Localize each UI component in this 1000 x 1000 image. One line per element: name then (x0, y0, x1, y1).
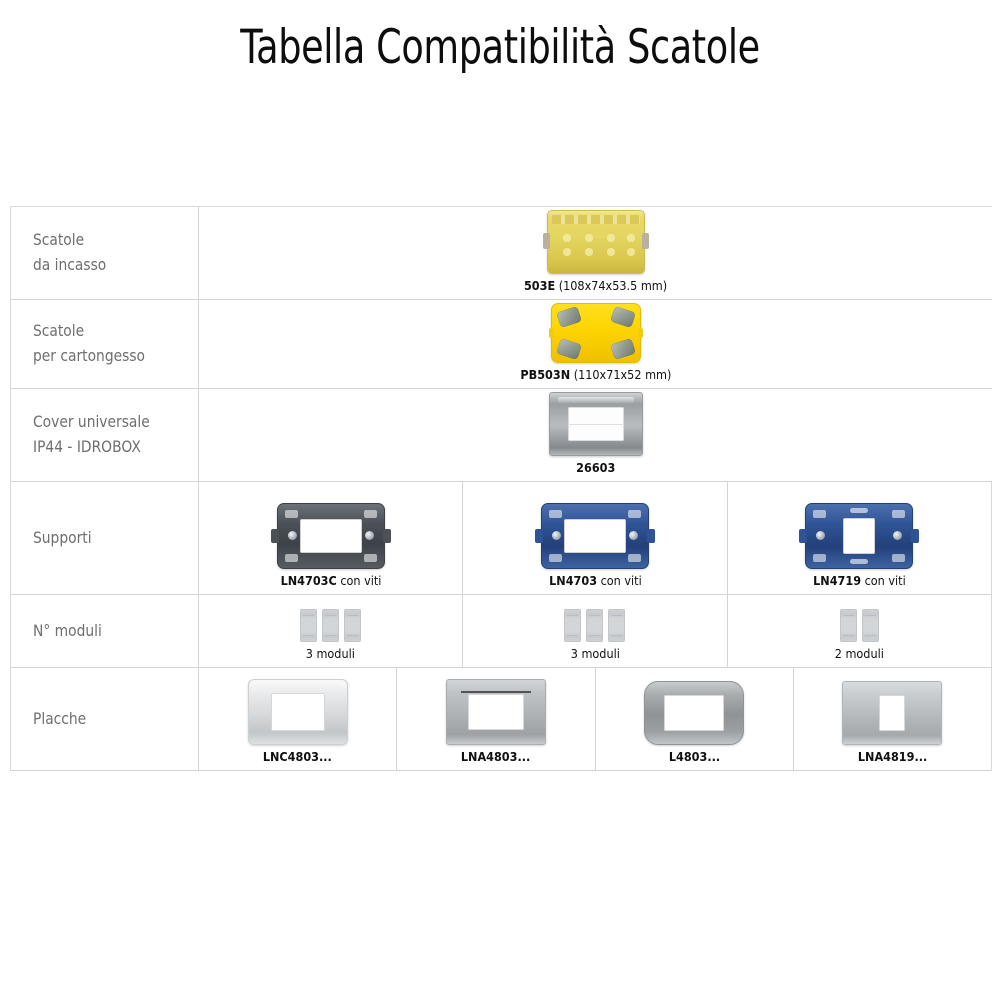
modules-art (463, 595, 726, 642)
modules-count-label: 3 moduli (570, 646, 619, 661)
row-label-scatole-per-cartongesso: Scatole per cartongesso (11, 300, 199, 388)
product-art (199, 668, 396, 745)
product-code: LN4703C (280, 573, 336, 588)
cell-caption: LNA4819... (858, 749, 927, 764)
cell-moduli-ln4703[interactable]: 3 moduli (463, 595, 727, 667)
cell-lna4819[interactable]: LNA4819... (794, 668, 992, 770)
product-code: LNA4819... (858, 749, 927, 764)
row-label-line1: Supporti (33, 526, 92, 551)
cell-caption: LN4703C con viti (280, 573, 381, 588)
row-cells: PB503N (110x71x52 mm) (199, 300, 992, 388)
product-art (199, 207, 992, 274)
product-art (199, 389, 992, 456)
support-ln4703-icon (541, 503, 649, 569)
cell-caption: 26603 (576, 460, 615, 475)
cell-caption: PB503N (110x71x52 mm) (520, 367, 671, 382)
product-code: 503E (524, 278, 555, 293)
row-cells: 503E (108x74x53.5 mm) (199, 207, 992, 299)
cell-26603[interactable]: 26603 (199, 389, 992, 481)
table-row-numero-moduli: N° moduli 3 moduli (11, 595, 992, 668)
row-label-line1: Scatole (33, 228, 84, 253)
product-art (794, 668, 991, 745)
row-label-line1: N° moduli (33, 619, 102, 644)
plate-l4803-icon (644, 681, 744, 745)
cell-caption: 3 moduli (570, 646, 619, 661)
cell-ln4719[interactable]: LN4719 con viti (728, 482, 992, 594)
cell-caption: 503E (108x74x53.5 mm) (524, 278, 667, 293)
cell-moduli-ln4703c[interactable]: 3 moduli (199, 595, 463, 667)
product-art (728, 482, 991, 569)
cell-caption: 3 moduli (306, 646, 355, 661)
row-label-line1: Cover universale (33, 410, 150, 435)
cell-caption: LN4719 con viti (813, 573, 906, 588)
product-detail: (110x71x52 mm) (570, 367, 671, 382)
product-art (596, 668, 793, 745)
compatibility-table-page: Tabella Compatibilità Scatole Scatole da… (0, 0, 1000, 1000)
cell-lnc4803[interactable]: LNC4803... (199, 668, 397, 770)
modules-art (728, 595, 991, 642)
row-label-line2: da incasso (33, 253, 106, 278)
product-detail: (108x74x53.5 mm) (555, 278, 667, 293)
product-art (199, 300, 992, 363)
product-detail: con viti (861, 573, 906, 588)
product-code: LN4703 (549, 573, 597, 588)
support-ln4703c-icon (277, 503, 385, 569)
modules-art (199, 595, 462, 642)
cell-503e[interactable]: 503E (108x74x53.5 mm) (199, 207, 992, 299)
product-art (463, 482, 726, 569)
plate-lnc4803-icon (248, 679, 348, 745)
cell-caption: LNC4803... (263, 749, 332, 764)
cover-26603-icon (549, 392, 643, 456)
cell-caption: LNA4803... (461, 749, 530, 764)
cell-caption: L4803... (668, 749, 719, 764)
plate-lna4819-icon (842, 681, 942, 745)
cell-ln4703c[interactable]: LN4703C con viti (199, 482, 463, 594)
product-detail: con viti (336, 573, 381, 588)
row-cells: LNC4803... LNA4803... L4 (199, 668, 992, 770)
plate-lna4803-icon (446, 679, 546, 745)
row-label-line2: IP44 - IDROBOX (33, 435, 141, 460)
row-label-scatole-da-incasso: Scatole da incasso (11, 207, 199, 299)
row-label-supporti: Supporti (11, 482, 199, 594)
flush-box-503e-icon (547, 210, 645, 274)
row-label-line1: Scatole (33, 319, 84, 344)
row-label-line1: Placche (33, 707, 86, 732)
compatibility-table: Scatole da incasso 503E (108x74x53.5 mm) (10, 206, 992, 771)
cell-caption: LN4703 con viti (549, 573, 642, 588)
cell-caption: 2 moduli (835, 646, 884, 661)
modules-2-icon (840, 609, 879, 642)
table-row-supporti: Supporti LN4703C con viti (11, 482, 992, 595)
product-art (397, 668, 594, 745)
page-title: Tabella Compatibilità Scatole (110, 20, 890, 75)
table-row-scatole-per-cartongesso: Scatole per cartongesso PB503N (110x71x5… (11, 300, 992, 389)
support-ln4719-icon (805, 503, 913, 569)
row-label-placche: Placche (11, 668, 199, 770)
product-code: 26603 (576, 460, 615, 475)
row-label-cover-universale: Cover universale IP44 - IDROBOX (11, 389, 199, 481)
table-row-placche: Placche LNC4803... LNA4803... (11, 668, 992, 771)
cell-lna4803[interactable]: LNA4803... (397, 668, 595, 770)
cell-moduli-ln4719[interactable]: 2 moduli (728, 595, 992, 667)
row-cells: 3 moduli 3 moduli (199, 595, 992, 667)
modules-3-icon (300, 609, 361, 642)
product-code: PB503N (520, 367, 570, 382)
product-code: LNC4803... (263, 749, 332, 764)
row-label-numero-moduli: N° moduli (11, 595, 199, 667)
drywall-box-pb503n-icon (551, 303, 641, 363)
modules-count-label: 2 moduli (835, 646, 884, 661)
product-code: LN4719 (813, 573, 861, 588)
cell-pb503n[interactable]: PB503N (110x71x52 mm) (199, 300, 992, 388)
product-detail: con viti (597, 573, 642, 588)
cell-ln4703[interactable]: LN4703 con viti (463, 482, 727, 594)
table-row-cover-universale: Cover universale IP44 - IDROBOX 26603 (11, 389, 992, 482)
cell-l4803[interactable]: L4803... (596, 668, 794, 770)
product-code: LNA4803... (461, 749, 530, 764)
table-row-scatole-da-incasso: Scatole da incasso 503E (108x74x53.5 mm) (11, 207, 992, 300)
row-label-line2: per cartongesso (33, 344, 145, 369)
product-art (199, 482, 462, 569)
product-code: L4803... (668, 749, 719, 764)
row-cells: LN4703C con viti LN4703 (199, 482, 992, 594)
row-cells: 26603 (199, 389, 992, 481)
modules-3-icon (564, 609, 625, 642)
modules-count-label: 3 moduli (306, 646, 355, 661)
